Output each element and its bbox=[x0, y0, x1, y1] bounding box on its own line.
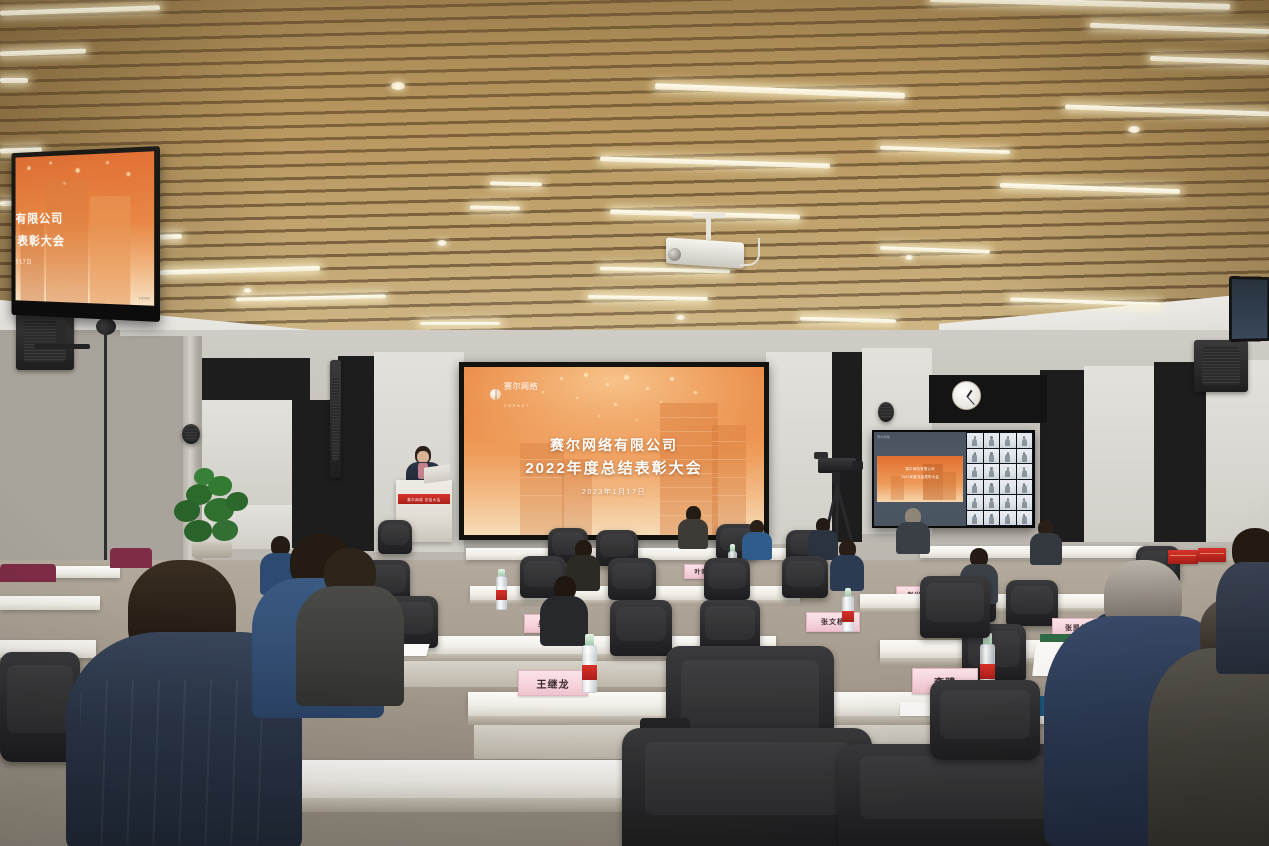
placard-name: 王继龙 bbox=[537, 676, 570, 691]
participant-tile bbox=[967, 511, 982, 526]
camera-lens-icon bbox=[852, 461, 863, 470]
ceiling-speaker-small bbox=[878, 402, 894, 422]
attendee-puffer bbox=[1148, 648, 1269, 846]
right-edge-monitor bbox=[1229, 276, 1269, 342]
attendee-torso bbox=[1216, 562, 1269, 674]
wall-clock bbox=[952, 381, 981, 410]
logo-text-en: CERNET bbox=[504, 403, 530, 408]
bottle-label bbox=[980, 664, 995, 678]
camera-body bbox=[818, 458, 856, 473]
participant-tile bbox=[1017, 480, 1032, 495]
microphone-icon bbox=[96, 318, 116, 335]
participant-tile bbox=[1000, 433, 1015, 448]
accent-chair-red bbox=[110, 548, 152, 568]
lectern-banner: 赛尔网络 总结大会 bbox=[398, 494, 450, 504]
potted-plant bbox=[170, 466, 256, 558]
participant-tile bbox=[984, 433, 999, 448]
projection-screen: 赛尔网络 CERNET 赛尔网络有限公司 2022年度总结表彰大会 2023年1… bbox=[464, 367, 764, 535]
projection-screen-frame: 赛尔网络 CERNET 赛尔网络有限公司 2022年度总结表彰大会 2023年1… bbox=[459, 362, 769, 540]
conference-room-photo: 络有限公司 总结表彰大会 年1月17日 HDMI bbox=[0, 0, 1269, 846]
ceiling-downlight bbox=[391, 82, 405, 90]
left-monitor-line2: 总结表彰大会 bbox=[16, 231, 65, 249]
projector-cable bbox=[740, 238, 760, 266]
chair bbox=[608, 558, 656, 600]
accent-chair-red bbox=[0, 564, 56, 582]
monitor-stand-pole bbox=[56, 320, 66, 346]
participant-tile bbox=[1017, 464, 1032, 479]
foreground-attendee-right-rear bbox=[1216, 528, 1269, 668]
clock-minute-hand bbox=[966, 396, 974, 405]
slide-date: 2023年1月17日 bbox=[464, 487, 764, 497]
globe-icon bbox=[490, 389, 501, 400]
water-bottle bbox=[842, 596, 854, 632]
tall-wall-speaker bbox=[330, 360, 341, 478]
participant-tile bbox=[1000, 480, 1015, 495]
ceiling-projector bbox=[666, 232, 750, 266]
monitor-stand-base bbox=[34, 344, 90, 349]
attendee bbox=[896, 508, 930, 552]
foreground-attendee-mid bbox=[296, 548, 406, 698]
participant-tile bbox=[1017, 449, 1032, 464]
attendee bbox=[678, 506, 708, 546]
wall-panel-dark bbox=[338, 356, 374, 551]
water-bottle bbox=[582, 645, 597, 693]
projector-lens-icon bbox=[668, 248, 681, 261]
left-wall-monitor: 络有限公司 总结表彰大会 年1月17日 HDMI bbox=[11, 146, 160, 322]
clock-backing-panel bbox=[929, 375, 1047, 423]
participant-tile bbox=[984, 449, 999, 464]
water-bottle bbox=[496, 576, 507, 610]
chair bbox=[610, 600, 672, 656]
ceiling-light-tube bbox=[0, 78, 28, 83]
left-monitor-panel: 络有限公司 总结表彰大会 年1月17日 HDMI bbox=[16, 151, 155, 306]
ceiling-light-tube bbox=[420, 322, 500, 325]
logo-text-cn: 赛尔网络 bbox=[504, 382, 538, 391]
attendee-torso bbox=[678, 519, 708, 549]
ceiling-downlight bbox=[1128, 126, 1140, 133]
wall-speaker-right bbox=[1194, 340, 1248, 392]
slide-building bbox=[90, 196, 131, 306]
left-monitor-date: 年1月17日 bbox=[16, 257, 33, 266]
attendee-torso bbox=[896, 522, 930, 554]
video-wall-slide-line1: 赛尔网络有限公司 bbox=[877, 467, 963, 472]
participant-tile bbox=[1000, 511, 1015, 526]
attendee-torso bbox=[540, 596, 588, 646]
tripod-head bbox=[832, 472, 840, 484]
participant-tile bbox=[1000, 464, 1015, 479]
video-wall-slide-line2: 2022年度总结表彰大会 bbox=[877, 475, 963, 480]
attendee-torso bbox=[742, 532, 772, 560]
ceiling-downlight bbox=[905, 255, 913, 260]
attendee bbox=[540, 576, 588, 642]
attendee-torso bbox=[830, 555, 864, 591]
attendee bbox=[830, 540, 864, 588]
attendee-jacket bbox=[296, 586, 404, 706]
ceiling-downlight bbox=[437, 240, 447, 246]
microphone-stand-pole bbox=[104, 330, 107, 560]
participant-tile bbox=[1017, 433, 1032, 448]
ceiling-speaker-small bbox=[182, 424, 200, 444]
participant-tile bbox=[967, 495, 982, 510]
participant-tile bbox=[967, 464, 982, 479]
attendee bbox=[1030, 520, 1062, 562]
left-monitor-line1: 络有限公司 bbox=[16, 208, 64, 226]
participant-tile bbox=[984, 511, 999, 526]
bottle-label bbox=[582, 665, 597, 679]
ceiling-downlight bbox=[676, 315, 685, 320]
wall-panel-dark bbox=[200, 358, 310, 400]
participant-tile bbox=[984, 464, 999, 479]
participant-tile bbox=[1000, 495, 1015, 510]
video-wall-share-label: 赛尔网络 bbox=[877, 435, 890, 439]
plant-pot bbox=[192, 542, 232, 558]
participant-tile bbox=[967, 433, 982, 448]
participant-tile bbox=[967, 449, 982, 464]
chair bbox=[782, 556, 828, 598]
slide-title-line1: 赛尔网络有限公司 bbox=[464, 435, 764, 455]
chair bbox=[930, 680, 1040, 760]
projector-mount-pole bbox=[706, 216, 711, 240]
participant-tile bbox=[1000, 449, 1015, 464]
bottle-label bbox=[496, 590, 507, 600]
bottle-label bbox=[842, 611, 854, 622]
participant-tile bbox=[1017, 495, 1032, 510]
name-placard-front-left: 王继龙 bbox=[518, 670, 588, 696]
participant-tile bbox=[984, 495, 999, 510]
attendee bbox=[742, 520, 772, 558]
participant-tile bbox=[967, 480, 982, 495]
jacket-quilting bbox=[80, 680, 280, 844]
right-edge-monitor-panel bbox=[1232, 279, 1267, 339]
video-wall-slide: 赛尔网络有限公司 2022年度总结表彰大会 bbox=[877, 456, 963, 502]
ceiling-downlight bbox=[243, 288, 252, 293]
cernet-logo: 赛尔网络 CERNET bbox=[490, 376, 538, 412]
chair bbox=[920, 576, 990, 638]
chair bbox=[704, 558, 750, 600]
slide-title-line2: 2022年度总结表彰大会 bbox=[464, 457, 764, 478]
wall-panel-white bbox=[1084, 366, 1154, 542]
video-wall-participant-grid bbox=[966, 432, 1033, 526]
chair bbox=[622, 728, 872, 846]
participant-tile bbox=[984, 480, 999, 495]
